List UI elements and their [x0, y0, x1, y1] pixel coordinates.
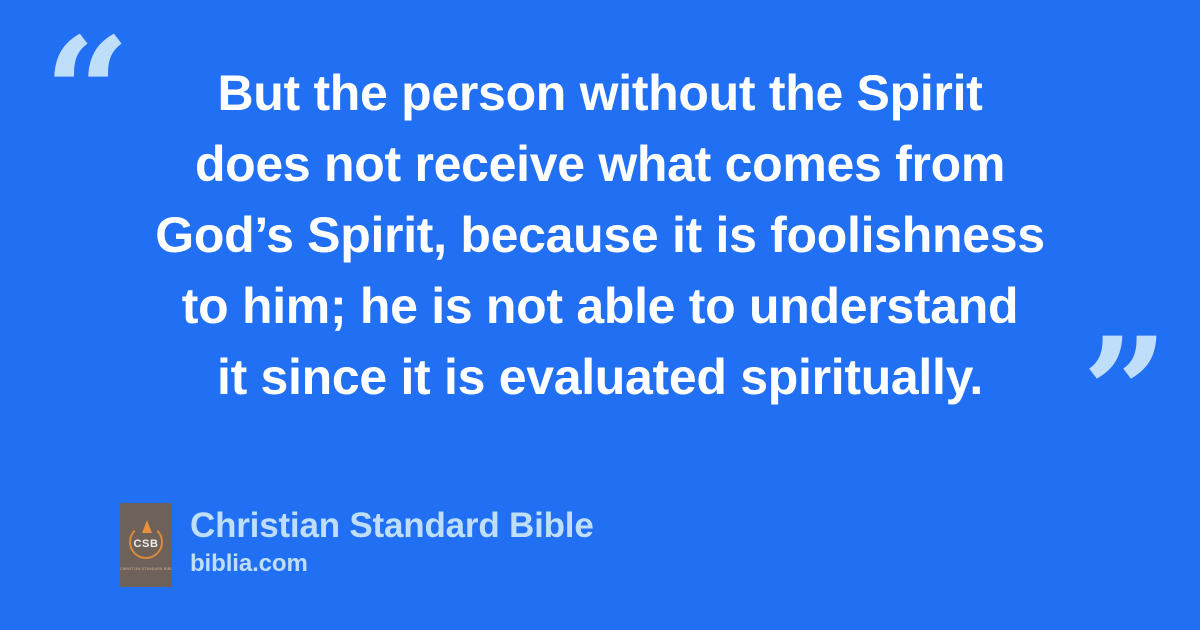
website-label[interactable]: biblia.com [190, 549, 594, 579]
quote-line: does not receive what comes from [100, 129, 1100, 200]
bible-version-title: Christian Standard Bible [190, 505, 594, 547]
csb-cover-caption: CHRISTIAN STANDARD BIBLE [120, 567, 172, 571]
closing-quote-mark-icon: ” [1082, 318, 1168, 468]
quote-line: to him; he is not able to understand [100, 271, 1100, 342]
quote-line: it since it is evaluated spiritually. [100, 342, 1100, 413]
verse-image-poster: “ But the person without the Spirit does… [0, 0, 1200, 630]
attribution-footer: CSB CHRISTIAN STANDARD BIBLE Christian S… [120, 503, 594, 587]
quote-line: God’s Spirit, because it is foolishness [100, 200, 1100, 271]
quote-line: But the person without the Spirit [100, 58, 1100, 129]
csb-book-cover-icon: CSB CHRISTIAN STANDARD BIBLE [120, 503, 172, 587]
csb-monogram: CSB [120, 538, 172, 550]
attribution-text: Christian Standard Bible biblia.com [190, 503, 594, 579]
quote-text-block: But the person without the Spirit does n… [100, 58, 1100, 413]
